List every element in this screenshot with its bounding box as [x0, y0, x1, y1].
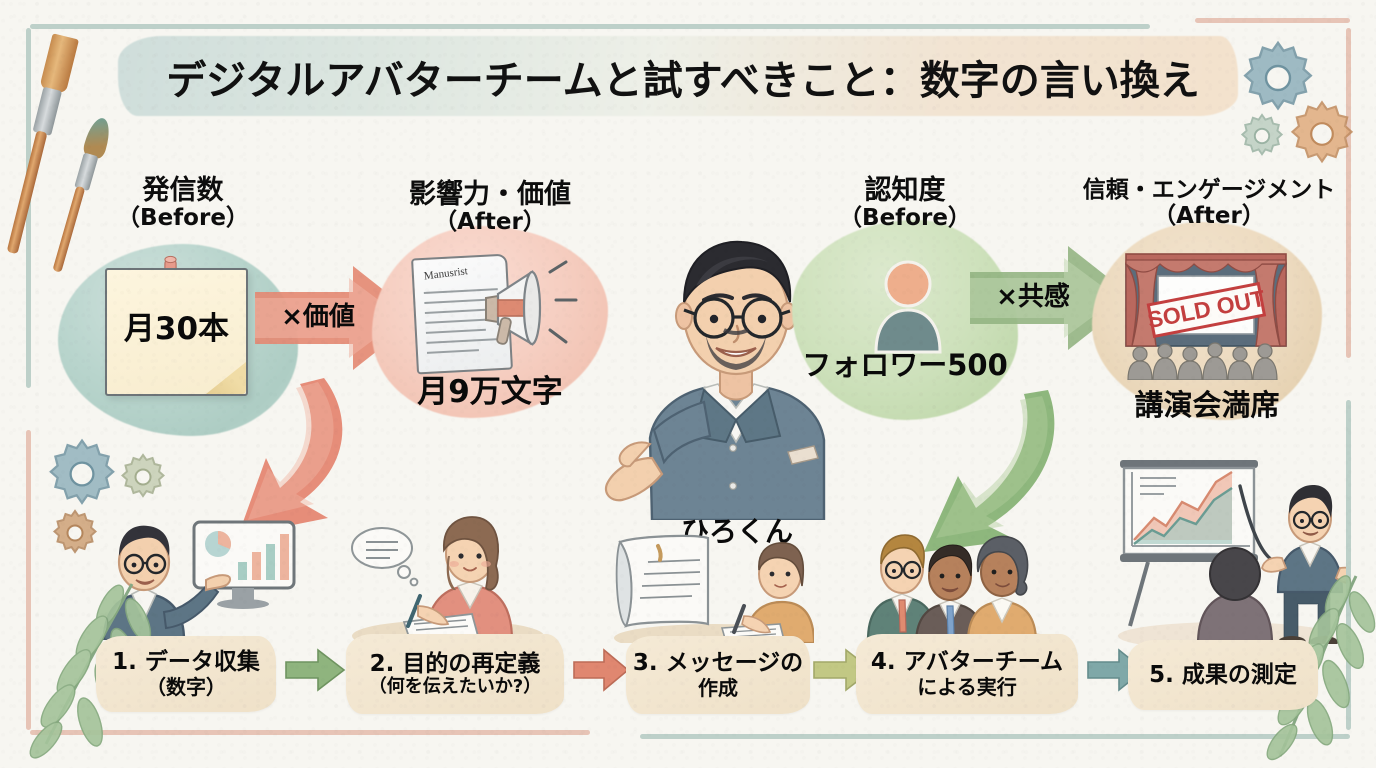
step-label-line1: 1. データ収集: [112, 649, 260, 675]
transform-arrow-kyokan-label: ×共感: [978, 276, 1088, 313]
panel-label-shinrai: 信頼・エンゲージメント （After）: [1064, 178, 1354, 230]
step-pill-5[interactable]: 5. 成果の測定: [1128, 640, 1318, 710]
step-4-illustration: [862, 514, 1052, 644]
manuscript-title: Manusrist: [423, 265, 468, 282]
page-title: デジタルアバターチームと試すべきこと：数字の言い換え: [128, 45, 1238, 109]
gear-icon: [1238, 112, 1286, 160]
panel-label-hasshin: 発信数 （Before）: [98, 176, 268, 232]
step-label-line2: 作成: [698, 677, 738, 700]
person-avatar-icon: [872, 258, 944, 354]
panel-metric-shinrai: 講演会満席: [1092, 382, 1322, 424]
panel-label-eikyoryoku: 影響力・価値 （After）: [372, 180, 608, 236]
panel-subtitle: （After）: [372, 210, 608, 236]
step-pill-4[interactable]: 4. アバターチーム による実行: [856, 634, 1078, 714]
step-label-line1: 2. 目的の再定義: [370, 651, 541, 677]
megaphone-icon: [478, 256, 590, 356]
step-pill-1[interactable]: 1. データ収集 （数字）: [96, 636, 276, 712]
panel-subtitle: （Before）: [810, 206, 1000, 232]
panel-subtitle: （Before）: [98, 206, 268, 232]
step-label-line2: （何を伝えたいか?）: [369, 677, 541, 698]
frame-border-top-right: [1195, 18, 1350, 23]
panel-title: 発信数: [98, 176, 268, 206]
flow-arrow-1-2: [284, 648, 346, 692]
step-label-line1: 5. 成果の測定: [1149, 662, 1297, 688]
step-label-line1: 4. アバターチーム: [871, 649, 1063, 675]
step-3-illustration: [604, 528, 814, 643]
frame-border-bottom-right: [640, 734, 1350, 739]
panel-label-ninchido: 認知度 （Before）: [810, 176, 1000, 232]
step-pill-3[interactable]: 3. メッセージの 作成: [626, 636, 810, 714]
theater-stage-icon: SOLD OUT: [1122, 248, 1290, 380]
infographic-canvas: デジタルアバターチームと試すべきこと：数字の言い換え: [0, 0, 1376, 768]
panel-title: 認知度: [810, 176, 1000, 206]
step-label-line1: 3. メッセージの: [633, 650, 803, 676]
gear-icon: [118, 452, 168, 502]
panel-title: 影響力・価値: [372, 180, 608, 210]
panel-subtitle: （After）: [1064, 204, 1354, 230]
step-label-line2: （数字）: [146, 676, 226, 699]
gear-icon: [1286, 98, 1358, 170]
panel-metric-eikyoryoku: 月9万文字: [372, 366, 608, 411]
transform-arrow-kachi-label: ×価値: [263, 296, 373, 333]
frame-border-top: [30, 24, 1150, 29]
panel-metric-hasshin: 月30本: [105, 303, 248, 348]
panel-title: 信頼・エンゲージメント: [1064, 178, 1354, 204]
flow-arrow-2-3: [572, 648, 630, 692]
step-label-line2: による実行: [917, 676, 1016, 699]
step-pill-2[interactable]: 2. 目的の再定義 （何を伝えたいか?）: [346, 634, 564, 714]
step-2-illustration: [348, 510, 548, 640]
